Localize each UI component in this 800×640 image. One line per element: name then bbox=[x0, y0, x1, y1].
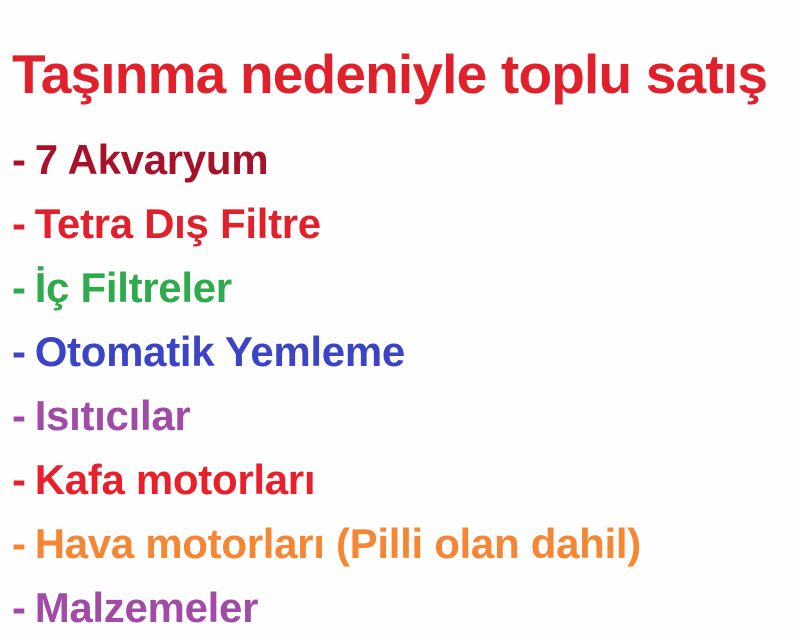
list-item-label: Otomatik Yemleme bbox=[35, 320, 405, 384]
list-item: -İç Filtreler bbox=[12, 256, 800, 320]
list-item-label: 7 Akvaryum bbox=[35, 128, 269, 192]
list-item: -Kafa motorları bbox=[12, 448, 800, 512]
bullet-dash: - bbox=[12, 512, 26, 576]
list-item: -Hava motorları (Pilli olan dahil) bbox=[12, 512, 800, 576]
sale-item-list: -7 Akvaryum -Tetra Dış Filtre -İç Filtre… bbox=[12, 128, 800, 640]
bullet-dash: - bbox=[12, 576, 26, 640]
list-item-label: Hava motorları (Pilli olan dahil) bbox=[35, 512, 641, 576]
page-title: Taşınma nedeniyle toplu satış bbox=[12, 46, 800, 102]
list-item: -7 Akvaryum bbox=[12, 128, 800, 192]
bullet-dash: - bbox=[12, 128, 26, 192]
list-item-label: Kafa motorları bbox=[35, 448, 316, 512]
bullet-dash: - bbox=[12, 384, 26, 448]
bullet-dash: - bbox=[12, 192, 26, 256]
list-item-label: İç Filtreler bbox=[35, 256, 232, 320]
poster-canvas: Taşınma nedeniyle toplu satış -7 Akvaryu… bbox=[0, 0, 800, 637]
list-item: -Tetra Dış Filtre bbox=[12, 192, 800, 256]
bullet-dash: - bbox=[12, 256, 26, 320]
list-item: -Otomatik Yemleme bbox=[12, 320, 800, 384]
list-item-label: Malzemeler bbox=[35, 576, 258, 640]
list-item: -Malzemeler bbox=[12, 576, 800, 640]
list-item-label: Isıtıcılar bbox=[35, 384, 191, 448]
bullet-dash: - bbox=[12, 448, 26, 512]
list-item: -Isıtıcılar bbox=[12, 384, 800, 448]
bullet-dash: - bbox=[12, 320, 26, 384]
list-item-label: Tetra Dış Filtre bbox=[35, 192, 321, 256]
